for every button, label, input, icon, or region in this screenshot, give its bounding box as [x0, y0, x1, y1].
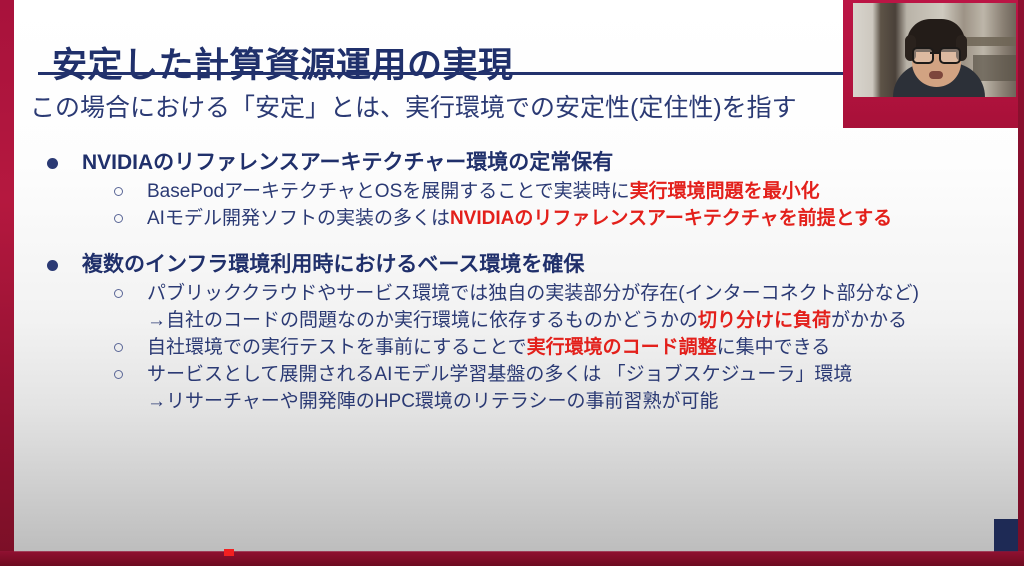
- highlighted-text: 切り分けに負荷: [698, 310, 831, 331]
- slide-lead-sentence: この場合における「安定」とは、実行環境での安定性(定住性)を指す: [30, 88, 797, 124]
- bullet-circle-icon: [114, 343, 123, 352]
- slide-title: 安定した計算資源運用の実現: [52, 37, 514, 88]
- bullet-level1-label: 複数のインフラ環境利用時におけるベース環境を確保: [82, 253, 584, 276]
- bullet-level2-continuation: →リサーチャーや開発陣のHPC環境のリテラシーの事前習熟が可能: [14, 388, 1014, 415]
- presenter-mouth: [929, 71, 943, 79]
- bullet-group: 複数のインフラ環境利用時におけるベース環境を確保パブリッククラウドやサービス環境…: [14, 250, 1014, 415]
- bullet-level2-continuation: →自社のコードの問題なのか実行環境に依存するものかどうかの切り分けに負荷がかかる: [14, 307, 1014, 334]
- highlighted-text: 実行環境問題を最小化: [630, 181, 820, 202]
- webcam-background-furniture: [973, 55, 1016, 81]
- highlighted-text: 実行環境のコード調整: [527, 337, 717, 358]
- screen-recording-frame: 安定した計算資源運用の実現 この場合における「安定」とは、実行環境での安定性(定…: [0, 0, 1024, 566]
- bullet-level2: BasePodアーキテクチャとOSを展開することで実装時に実行環境問題を最小化: [14, 178, 1014, 205]
- body-text: BasePodアーキテクチャとOSを展開することで実装時に: [147, 181, 630, 202]
- webcam-background-shelf: [961, 37, 1016, 46]
- bullet-circle-icon: [114, 370, 123, 379]
- bullet-disc-icon: [47, 260, 58, 271]
- bullet-level1: 複数のインフラ環境利用時におけるベース環境を確保: [14, 250, 1014, 280]
- slide-body: NVIDIAのリファレンスアーキテクチャー環境の定常保有BasePodアーキテク…: [14, 148, 1014, 433]
- body-text: →リサーチャーや開発陣のHPC環境のリテラシーの事前習熟が可能: [147, 391, 719, 412]
- glasses-left-lens-icon: [912, 47, 934, 64]
- body-text: パブリッククラウドやサービス環境では独自の実装部分が存在(インターコネクト部分な…: [147, 283, 919, 304]
- bullet-level1-label: NVIDIAのリファレンスアーキテクチャー環境の定常保有: [82, 151, 613, 174]
- bullet-circle-icon: [114, 214, 123, 223]
- body-text: に集中できる: [717, 337, 831, 358]
- window-frame-left: [0, 0, 14, 566]
- body-text: がかかる: [831, 310, 907, 331]
- bullet-circle-icon: [114, 289, 123, 298]
- bullet-level2: AIモデル開発ソフトの実装の多くはNVIDIAのリファレンスアーキテクチャを前提…: [14, 205, 1014, 232]
- highlighted-text: NVIDIAのリファレンスアーキテクチャを前提とする: [450, 208, 892, 229]
- body-text: 自社環境での実行テストを事前にすることで: [147, 337, 527, 358]
- bullet-level1: NVIDIAのリファレンスアーキテクチャー環境の定常保有: [14, 148, 1014, 178]
- title-underline-rule: [38, 72, 848, 75]
- body-text: サービスとして展開されるAIモデル学習基盤の多くは 「ジョブスケジューラ」環境: [147, 364, 852, 385]
- bullet-level2: パブリッククラウドやサービス環境では独自の実装部分が存在(インターコネクト部分な…: [14, 280, 1014, 307]
- glasses-bridge-icon: [930, 52, 939, 54]
- bullet-level2: サービスとして展開されるAIモデル学習基盤の多くは 「ジョブスケジューラ」環境: [14, 361, 1014, 388]
- body-text: →自社のコードの問題なのか実行環境に依存するものかどうかの: [147, 310, 698, 331]
- bullet-circle-icon: [114, 187, 123, 196]
- bullet-disc-icon: [47, 158, 58, 169]
- presenter-webcam-video: [853, 3, 1016, 97]
- body-text: AIモデル開発ソフトの実装の多くは: [147, 208, 450, 229]
- playback-position-marker[interactable]: [224, 549, 234, 556]
- slide-corner-accent-block: [994, 519, 1018, 552]
- window-frame-bottom: [0, 552, 1024, 566]
- window-frame-right: [1018, 0, 1024, 566]
- bullet-group: NVIDIAのリファレンスアーキテクチャー環境の定常保有BasePodアーキテク…: [14, 148, 1014, 232]
- glasses-right-lens-icon: [939, 47, 961, 64]
- bullet-level2: 自社環境での実行テストを事前にすることで実行環境のコード調整に集中できる: [14, 334, 1014, 361]
